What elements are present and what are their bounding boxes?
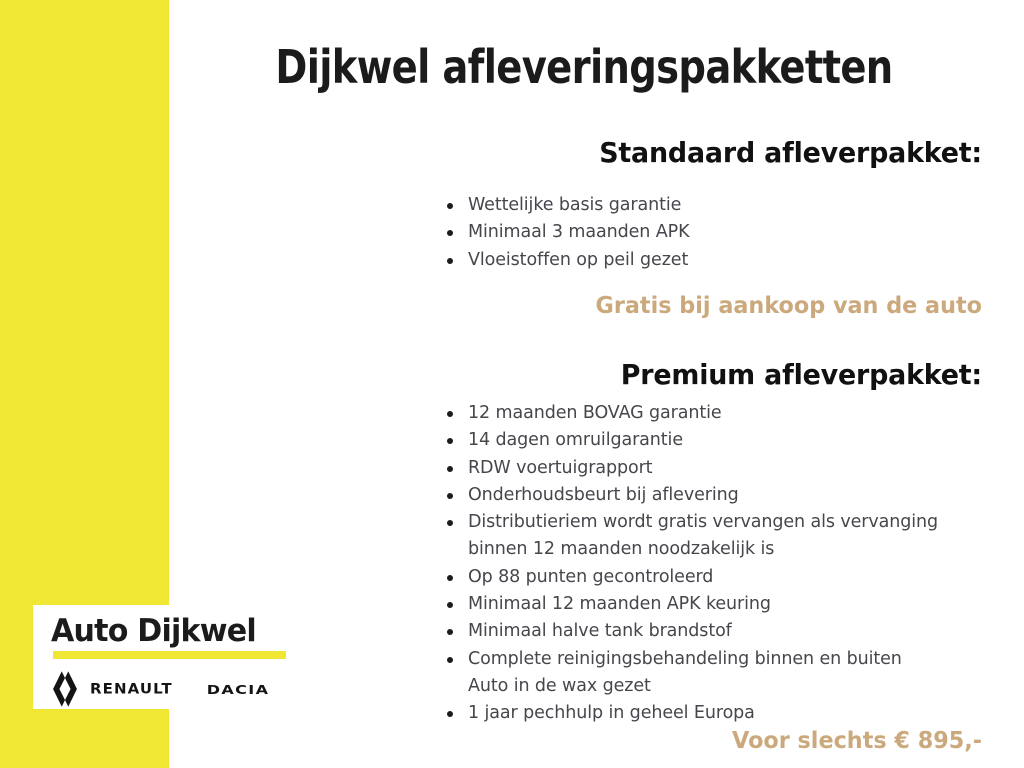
list-item-text: Minimaal halve tank brandstof <box>468 621 732 641</box>
premium-package-price-note: Voor slechts € 895,- <box>210 729 982 754</box>
list-item: Complete reinigingsbehandeling binnen en… <box>441 646 982 701</box>
list-item-text: Distributieriem wordt gratis vervangen a… <box>468 512 938 532</box>
list-item-text: Onderhoudsbeurt bij aflevering <box>468 485 739 505</box>
premium-package-list: 12 maanden BOVAG garantie 14 dagen omrui… <box>441 400 982 728</box>
list-item-text: 14 dagen omruilgarantie <box>468 430 683 450</box>
list-item-text-continued: Auto in de wax gezet <box>468 673 982 700</box>
dacia-wordmark: DACIA <box>207 682 270 697</box>
standard-package-heading: Standaard afleverpakket: <box>218 138 982 169</box>
list-item-text: Complete reinigingsbehandeling binnen en… <box>468 649 902 669</box>
standard-package-list: Wettelijke basis garantie Minimaal 3 maa… <box>441 192 982 274</box>
dealer-logo-card: Auto Dijkwel RENAULT DACIA <box>33 605 300 709</box>
list-item: Minimaal 12 maanden APK keuring <box>441 591 982 618</box>
list-item: Vloeistoffen op peil gezet <box>441 247 982 274</box>
list-item-text-continued: binnen 12 maanden noodzakelijk is <box>468 536 982 563</box>
dealer-wordmark: Auto Dijkwel <box>51 614 281 648</box>
page-title: Dijkwel afleveringspakketten <box>214 43 954 91</box>
poster-canvas: Dijkwel afleveringspakketten Standaard a… <box>0 0 1024 768</box>
list-item-text: 12 maanden BOVAG garantie <box>468 403 722 423</box>
list-item: Wettelijke basis garantie <box>441 192 982 219</box>
content-column: Dijkwel afleveringspakketten Standaard a… <box>186 0 982 768</box>
list-item: 14 dagen omruilgarantie <box>441 427 982 454</box>
list-item-text: 1 jaar pechhulp in geheel Europa <box>468 703 755 723</box>
renault-diamond-icon <box>51 670 79 708</box>
list-item: Minimaal 3 maanden APK <box>441 219 982 246</box>
renault-wordmark: RENAULT <box>90 681 173 698</box>
list-item-text: RDW voertuigrapport <box>468 458 652 478</box>
list-item-text: Op 88 punten gecontroleerd <box>468 567 713 587</box>
list-item: Op 88 punten gecontroleerd <box>441 564 982 591</box>
standard-package-free-note: Gratis bij aankoop van de auto <box>210 294 982 319</box>
list-item: 1 jaar pechhulp in geheel Europa <box>441 700 982 727</box>
list-item: RDW voertuigrapport <box>441 455 982 482</box>
list-item: Distributieriem wordt gratis vervangen a… <box>441 509 982 564</box>
premium-package-heading: Premium afleverpakket: <box>218 360 982 391</box>
logo-divider-rule <box>53 651 286 659</box>
list-item: Minimaal halve tank brandstof <box>441 618 982 645</box>
list-item: 12 maanden BOVAG garantie <box>441 400 982 427</box>
brand-logos-row: RENAULT DACIA <box>51 670 288 708</box>
list-item-text: Minimaal 12 maanden APK keuring <box>468 594 771 614</box>
list-item: Onderhoudsbeurt bij aflevering <box>441 482 982 509</box>
